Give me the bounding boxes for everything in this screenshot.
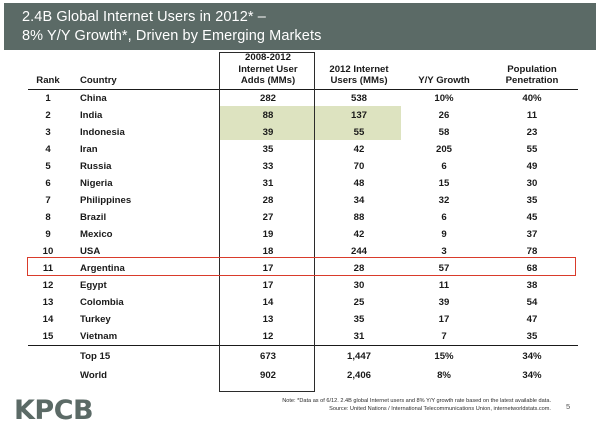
cell-penetration: 37 bbox=[486, 226, 578, 243]
cell-adds: 88 bbox=[220, 107, 316, 124]
cell-growth: 205 bbox=[402, 141, 486, 158]
table-row[interactable]: 3Indonesia39555823 bbox=[28, 124, 578, 141]
col-header-users: 2012 Internet Users (MMs) bbox=[316, 52, 402, 89]
cell-country: Russia bbox=[68, 158, 220, 175]
cell-growth: 15 bbox=[402, 175, 486, 192]
total-cell-rank bbox=[28, 345, 68, 365]
total-cell-growth: 15% bbox=[402, 345, 486, 365]
table-row[interactable]: 10USA18244378 bbox=[28, 243, 578, 260]
cell-rank: 15 bbox=[28, 328, 68, 346]
cell-growth: 17 bbox=[402, 311, 486, 328]
col-header-penetration-l3: Penetration bbox=[486, 75, 578, 87]
table-row[interactable]: 14Turkey13351747 bbox=[28, 311, 578, 328]
cell-users: 88 bbox=[316, 209, 402, 226]
col-header-users-l3: Users (MMs) bbox=[316, 75, 402, 87]
cell-adds: 31 bbox=[220, 175, 316, 192]
col-header-users-l1 bbox=[316, 52, 402, 64]
col-header-country-l2 bbox=[80, 64, 220, 76]
page-number: 5 bbox=[566, 402, 570, 411]
cell-growth: 9 bbox=[402, 226, 486, 243]
cell-penetration: 35 bbox=[486, 328, 578, 346]
table-region: Rank Country 2008-2012 Internet User Add… bbox=[0, 52, 600, 397]
cell-adds: 28 bbox=[220, 192, 316, 209]
total-cell-adds: 902 bbox=[220, 365, 316, 384]
table-row[interactable]: 11Argentina17285768 bbox=[28, 260, 578, 277]
cell-penetration: 11 bbox=[486, 107, 578, 124]
cell-rank: 6 bbox=[28, 175, 68, 192]
cell-users: 28 bbox=[316, 260, 402, 277]
cell-users: 244 bbox=[316, 243, 402, 260]
cell-country: Nigeria bbox=[68, 175, 220, 192]
col-header-penetration-l2: Population bbox=[486, 64, 578, 76]
col-header-penetration-l1 bbox=[486, 52, 578, 64]
table-total-row: World9022,4068%34% bbox=[28, 365, 578, 384]
cell-adds: 35 bbox=[220, 141, 316, 158]
cell-rank: 11 bbox=[28, 260, 68, 277]
cell-penetration: 47 bbox=[486, 311, 578, 328]
cell-growth: 7 bbox=[402, 328, 486, 346]
cell-users: 34 bbox=[316, 192, 402, 209]
table-row[interactable]: 2India881372611 bbox=[28, 107, 578, 124]
table-body: 1China28253810%40%2India8813726113Indone… bbox=[28, 89, 578, 345]
table-head: Rank Country 2008-2012 Internet User Add… bbox=[28, 52, 578, 89]
table-row[interactable]: 12Egypt17301138 bbox=[28, 277, 578, 294]
cell-country: India bbox=[68, 107, 220, 124]
total-cell-adds: 673 bbox=[220, 345, 316, 365]
col-header-rank-l2 bbox=[28, 64, 68, 76]
cell-users: 55 bbox=[316, 124, 402, 141]
cell-adds: 282 bbox=[220, 89, 316, 107]
col-header-growth-l1 bbox=[402, 52, 486, 64]
col-header-country: Country bbox=[68, 52, 220, 89]
total-cell-users: 1,447 bbox=[316, 345, 402, 365]
table-header-row: Rank Country 2008-2012 Internet User Add… bbox=[28, 52, 578, 89]
cell-growth: 11 bbox=[402, 277, 486, 294]
cell-users: 42 bbox=[316, 226, 402, 243]
cell-country: Brazil bbox=[68, 209, 220, 226]
cell-country: China bbox=[68, 89, 220, 107]
cell-growth: 26 bbox=[402, 107, 486, 124]
footnotes: Note: *Data as of 6/12. 2.4B global Inte… bbox=[186, 397, 551, 413]
col-header-growth-l2 bbox=[402, 64, 486, 76]
footnote-source: Source: United Nations / International T… bbox=[186, 405, 551, 413]
cell-penetration: 30 bbox=[486, 175, 578, 192]
table-total-row: Top 156731,44715%34% bbox=[28, 345, 578, 365]
table-row[interactable]: 9Mexico1942937 bbox=[28, 226, 578, 243]
col-header-growth-l3: Y/Y Growth bbox=[402, 75, 486, 87]
table-row[interactable]: 7Philippines28343235 bbox=[28, 192, 578, 209]
cell-rank: 8 bbox=[28, 209, 68, 226]
cell-country: Iran bbox=[68, 141, 220, 158]
table-row[interactable]: 6Nigeria31481530 bbox=[28, 175, 578, 192]
cell-growth: 6 bbox=[402, 209, 486, 226]
cell-penetration: 68 bbox=[486, 260, 578, 277]
cell-country: Mexico bbox=[68, 226, 220, 243]
cell-country: Indonesia bbox=[68, 124, 220, 141]
table-row[interactable]: 4Iran354220555 bbox=[28, 141, 578, 158]
cell-users: 48 bbox=[316, 175, 402, 192]
cell-users: 137 bbox=[316, 107, 402, 124]
cell-penetration: 38 bbox=[486, 277, 578, 294]
cell-adds: 18 bbox=[220, 243, 316, 260]
slide-title-line-1: 2.4B Global Internet Users in 2012* – bbox=[22, 8, 596, 27]
internet-users-table: Rank Country 2008-2012 Internet User Add… bbox=[28, 52, 578, 384]
cell-growth: 39 bbox=[402, 294, 486, 311]
cell-adds: 39 bbox=[220, 124, 316, 141]
cell-growth: 3 bbox=[402, 243, 486, 260]
cell-penetration: 49 bbox=[486, 158, 578, 175]
total-cell-country: World bbox=[68, 365, 220, 384]
cell-users: 70 bbox=[316, 158, 402, 175]
col-header-adds-l3: Adds (MMs) bbox=[220, 75, 316, 87]
slide-title-line-2: 8% Y/Y Growth*, Driven by Emerging Marke… bbox=[22, 27, 596, 46]
cell-country: Philippines bbox=[68, 192, 220, 209]
cell-country: Vietnam bbox=[68, 328, 220, 346]
total-cell-penetration: 34% bbox=[486, 365, 578, 384]
cell-adds: 13 bbox=[220, 311, 316, 328]
cell-growth: 58 bbox=[402, 124, 486, 141]
col-header-users-l2: 2012 Internet bbox=[316, 64, 402, 76]
cell-penetration: 23 bbox=[486, 124, 578, 141]
cell-growth: 6 bbox=[402, 158, 486, 175]
col-header-adds-l1: 2008-2012 bbox=[220, 52, 316, 64]
cell-adds: 14 bbox=[220, 294, 316, 311]
cell-country: Argentina bbox=[68, 260, 220, 277]
cell-penetration: 55 bbox=[486, 141, 578, 158]
cell-country: Turkey bbox=[68, 311, 220, 328]
table-totals: Top 156731,44715%34%World9022,4068%34% bbox=[28, 345, 578, 384]
cell-penetration: 78 bbox=[486, 243, 578, 260]
cell-users: 35 bbox=[316, 311, 402, 328]
cell-country: Colombia bbox=[68, 294, 220, 311]
cell-users: 25 bbox=[316, 294, 402, 311]
footnote-note: Note: *Data as of 6/12. 2.4B global Inte… bbox=[186, 397, 551, 405]
cell-rank: 3 bbox=[28, 124, 68, 141]
cell-adds: 19 bbox=[220, 226, 316, 243]
cell-penetration: 45 bbox=[486, 209, 578, 226]
cell-growth: 57 bbox=[402, 260, 486, 277]
cell-growth: 10% bbox=[402, 89, 486, 107]
table-row[interactable]: 1China28253810%40% bbox=[28, 89, 578, 107]
cell-rank: 5 bbox=[28, 158, 68, 175]
cell-rank: 7 bbox=[28, 192, 68, 209]
cell-adds: 17 bbox=[220, 260, 316, 277]
cell-country: USA bbox=[68, 243, 220, 260]
col-header-adds: 2008-2012 Internet User Adds (MMs) bbox=[220, 52, 316, 89]
col-header-country-l1 bbox=[80, 52, 220, 64]
cell-rank: 9 bbox=[28, 226, 68, 243]
cell-adds: 27 bbox=[220, 209, 316, 226]
kpcb-logo: KPCB bbox=[14, 396, 93, 426]
total-cell-growth: 8% bbox=[402, 365, 486, 384]
table-row[interactable]: 5Russia3370649 bbox=[28, 158, 578, 175]
cell-penetration: 40% bbox=[486, 89, 578, 107]
cell-rank: 2 bbox=[28, 107, 68, 124]
col-header-rank-l3: Rank bbox=[28, 75, 68, 87]
cell-rank: 12 bbox=[28, 277, 68, 294]
cell-adds: 17 bbox=[220, 277, 316, 294]
cell-rank: 4 bbox=[28, 141, 68, 158]
cell-adds: 12 bbox=[220, 328, 316, 346]
cell-users: 31 bbox=[316, 328, 402, 346]
cell-users: 42 bbox=[316, 141, 402, 158]
cell-rank: 14 bbox=[28, 311, 68, 328]
cell-penetration: 35 bbox=[486, 192, 578, 209]
col-header-rank-l1 bbox=[28, 52, 68, 64]
table-row[interactable]: 13Colombia14253954 bbox=[28, 294, 578, 311]
cell-country: Egypt bbox=[68, 277, 220, 294]
cell-rank: 1 bbox=[28, 89, 68, 107]
slide-title-band: 2.4B Global Internet Users in 2012* – 8%… bbox=[4, 3, 596, 50]
table-row[interactable]: 8Brazil2788645 bbox=[28, 209, 578, 226]
col-header-adds-l2: Internet User bbox=[220, 64, 316, 76]
cell-rank: 10 bbox=[28, 243, 68, 260]
total-cell-penetration: 34% bbox=[486, 345, 578, 365]
cell-adds: 33 bbox=[220, 158, 316, 175]
total-cell-country: Top 15 bbox=[68, 345, 220, 365]
total-cell-users: 2,406 bbox=[316, 365, 402, 384]
cell-users: 30 bbox=[316, 277, 402, 294]
total-cell-rank bbox=[28, 365, 68, 384]
col-header-penetration: Population Penetration bbox=[486, 52, 578, 89]
cell-penetration: 54 bbox=[486, 294, 578, 311]
col-header-country-l3: Country bbox=[80, 75, 220, 87]
table-row[interactable]: 15Vietnam1231735 bbox=[28, 328, 578, 346]
cell-rank: 13 bbox=[28, 294, 68, 311]
cell-growth: 32 bbox=[402, 192, 486, 209]
cell-users: 538 bbox=[316, 89, 402, 107]
col-header-growth: Y/Y Growth bbox=[402, 52, 486, 89]
col-header-rank: Rank bbox=[28, 52, 68, 89]
